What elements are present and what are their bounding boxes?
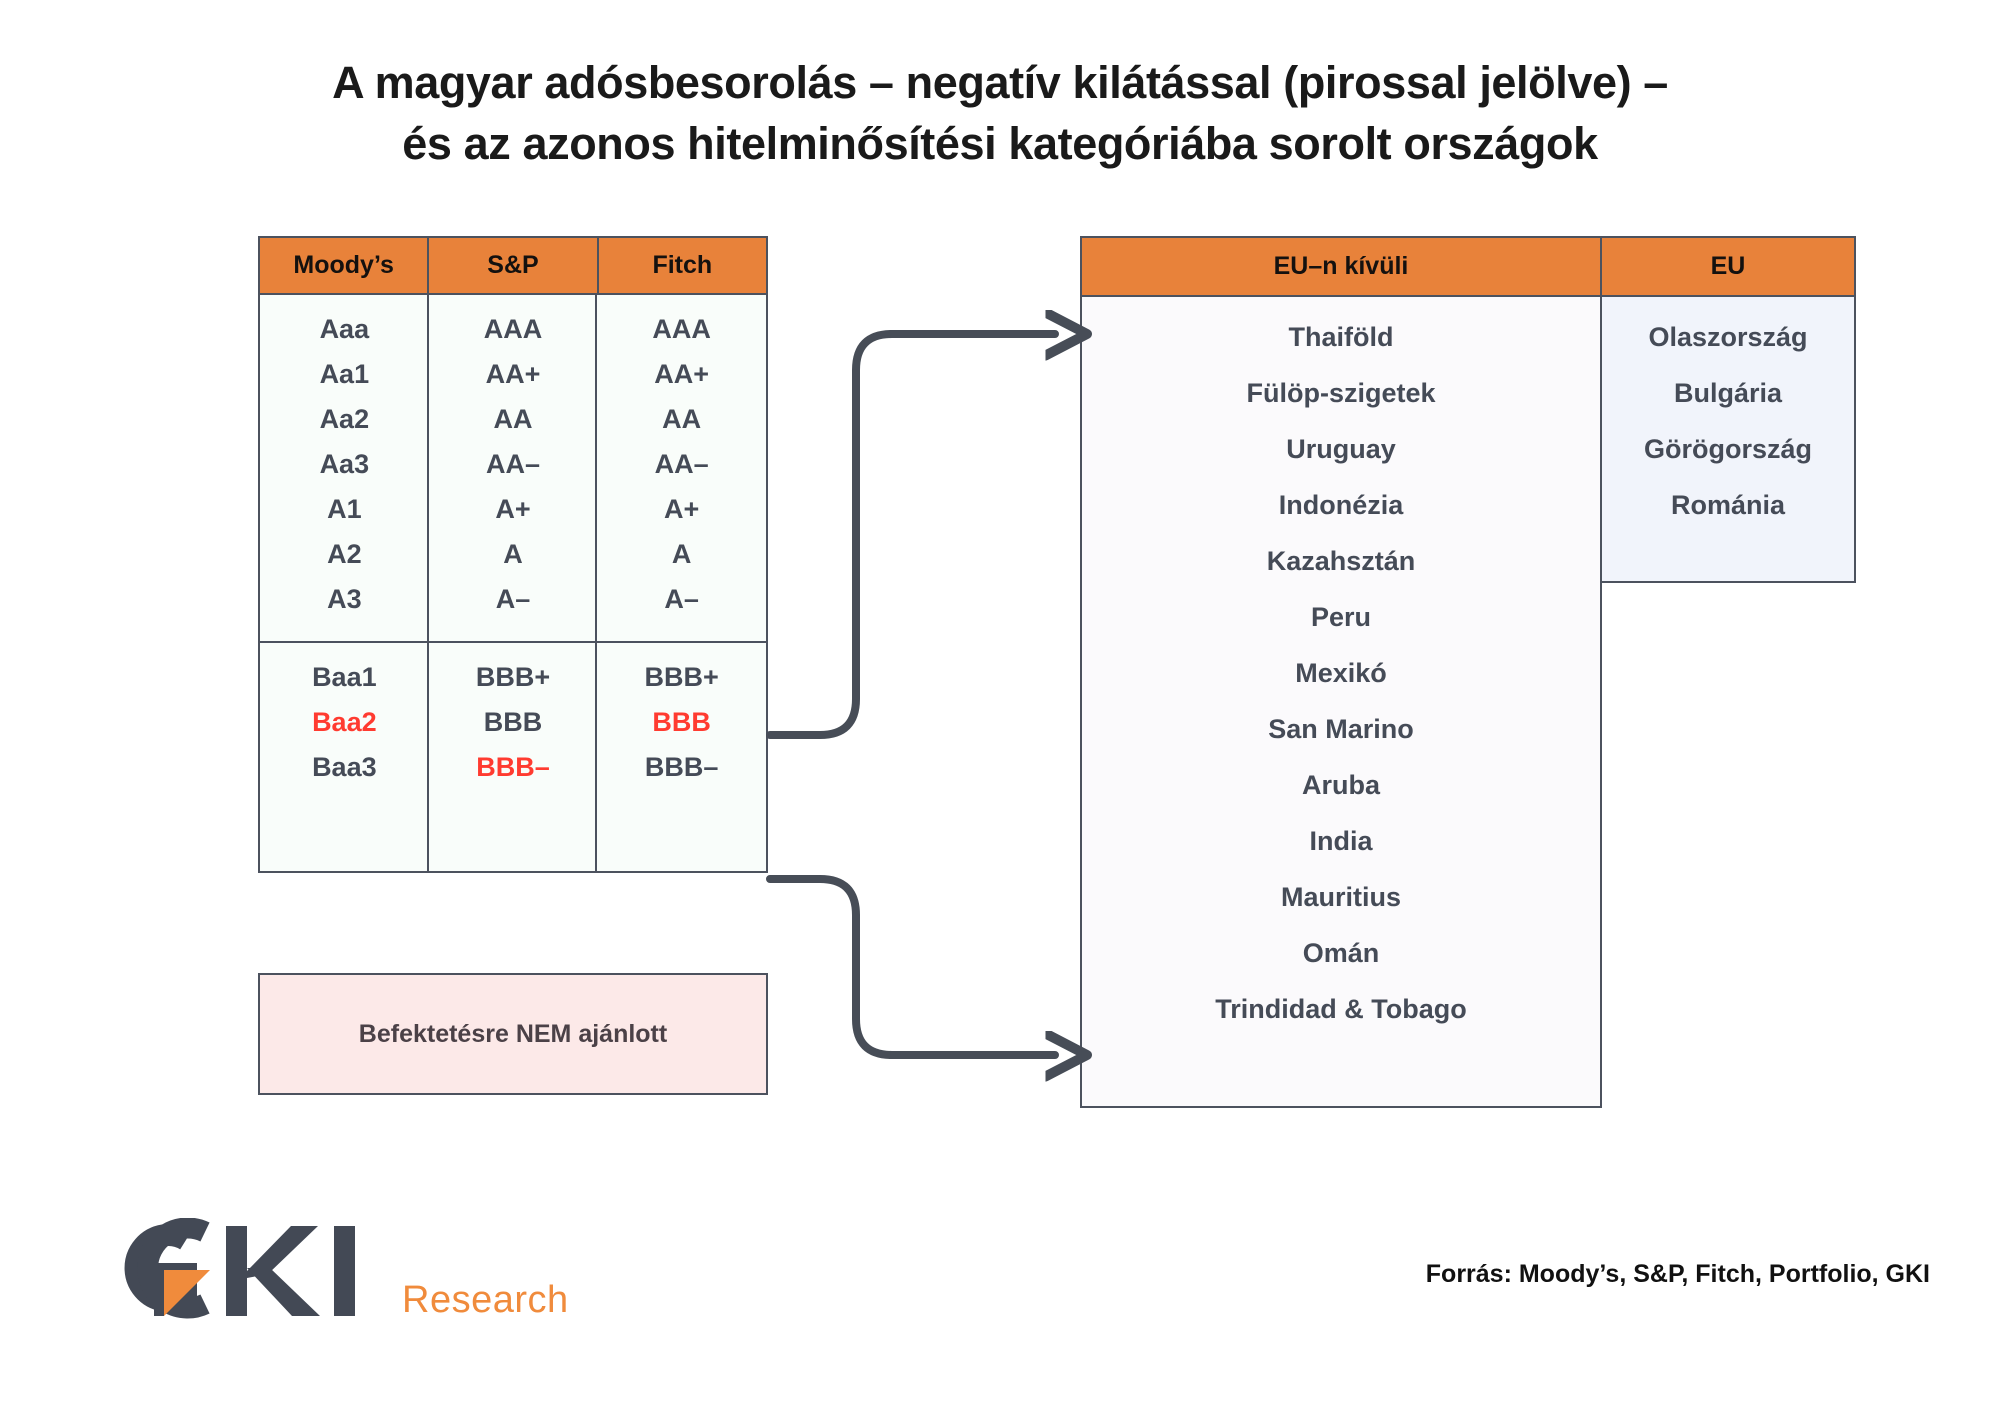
rating-cell: A xyxy=(429,532,598,577)
list-item: Románia xyxy=(1602,477,1854,533)
ratings-group-upper: Aaa Aa1 Aa2 Aa3 A1 A2 A3 AAA AA+ AA AA– … xyxy=(258,295,768,643)
ratings-column-moodys-upper: Aaa Aa1 Aa2 Aa3 A1 A2 A3 xyxy=(260,295,429,641)
rating-cell: AA xyxy=(597,397,766,442)
list-item: San Marino xyxy=(1082,701,1600,757)
rating-cell: Aa2 xyxy=(260,397,429,442)
rating-cell: BBB+ xyxy=(429,655,598,700)
source-note: Forrás: Moody’s, S&P, Fitch, Portfolio, … xyxy=(1426,1260,1930,1289)
rating-cell: A1 xyxy=(260,487,429,532)
rating-cell: BBB xyxy=(429,700,598,745)
list-item: India xyxy=(1082,813,1600,869)
rating-cell-negative-outlook: Baa2 xyxy=(260,700,429,745)
ratings-column-sp-upper: AAA AA+ AA AA– A+ A A– xyxy=(427,295,598,641)
gki-research-logo: Research xyxy=(108,1218,569,1328)
ratings-table-header-row: Moody’s S&P Fitch xyxy=(258,236,768,295)
non-eu-countries-table: EU–n kívüli Thaiföld Fülöp-szigetek Urug… xyxy=(1080,236,1602,1108)
arrow-baa2-to-countries xyxy=(770,334,1055,735)
column-header-fitch: Fitch xyxy=(597,236,768,295)
rating-cell: Aa3 xyxy=(260,442,429,487)
ratings-column-fitch-upper: AAA AA+ AA AA– A+ A A– xyxy=(595,295,766,641)
rating-cell: A2 xyxy=(260,532,429,577)
rating-cell-negative-outlook: BBB xyxy=(597,700,766,745)
list-item: Mexikó xyxy=(1082,645,1600,701)
rating-cell: AA– xyxy=(597,442,766,487)
rating-cell: BBB– xyxy=(597,745,766,790)
rating-cell: BBB+ xyxy=(597,655,766,700)
rating-cell: A– xyxy=(597,577,766,622)
logo-suffix: Research xyxy=(402,1279,569,1322)
list-item: Görögország xyxy=(1602,421,1854,477)
list-item: Indonézia xyxy=(1082,477,1600,533)
ratings-column-sp-lower: BBB+ BBB BBB– xyxy=(427,643,598,871)
ratings-column-moodys-lower: Baa1 Baa2 Baa3 xyxy=(260,643,429,871)
rating-cell: A3 xyxy=(260,577,429,622)
list-item: Trindidad & Tobago xyxy=(1082,981,1600,1037)
column-header-eu: EU xyxy=(1602,238,1854,297)
rating-cell: A– xyxy=(429,577,598,622)
list-item: Olaszország xyxy=(1602,309,1854,365)
eu-countries-table: EU Olaszország Bulgária Görögország Romá… xyxy=(1600,236,1856,583)
list-item: Fülöp-szigetek xyxy=(1082,365,1600,421)
list-item: Mauritius xyxy=(1082,869,1600,925)
ratings-table: Moody’s S&P Fitch Aaa Aa1 Aa2 Aa3 A1 A2 … xyxy=(258,236,768,1095)
list-item: Peru xyxy=(1082,589,1600,645)
page-title: A magyar adósbesorolás – negatív kilátás… xyxy=(0,52,2000,174)
list-item: Uruguay xyxy=(1082,421,1600,477)
not-recommended-band: Befektetésre NEM ajánlott xyxy=(258,973,768,1095)
column-header-non-eu: EU–n kívüli xyxy=(1082,238,1600,297)
infographic-canvas: A magyar adósbesorolás – negatív kilátás… xyxy=(0,0,2000,1414)
list-item: Omán xyxy=(1082,925,1600,981)
list-item: Aruba xyxy=(1082,757,1600,813)
page-title-line-2: és az azonos hitelminősítési kategóriába… xyxy=(0,113,2000,174)
rating-cell: A xyxy=(597,532,766,577)
gki-wordmark-icon xyxy=(108,1218,398,1328)
eu-country-list: Olaszország Bulgária Görögország Románia xyxy=(1602,297,1854,533)
column-header-sp: S&P xyxy=(427,236,598,295)
rating-cell: AA xyxy=(429,397,598,442)
column-header-moodys: Moody’s xyxy=(258,236,429,295)
arrow-baa3-to-countries xyxy=(770,879,1055,1055)
rating-cell: AA– xyxy=(429,442,598,487)
rating-cell: Baa3 xyxy=(260,745,429,790)
rating-cell: Baa1 xyxy=(260,655,429,700)
list-item: Thaiföld xyxy=(1082,309,1600,365)
non-eu-country-list: Thaiföld Fülöp-szigetek Uruguay Indonézi… xyxy=(1082,297,1600,1037)
rating-cell-negative-outlook: BBB– xyxy=(429,745,598,790)
list-item: Bulgária xyxy=(1602,365,1854,421)
ratings-group-lower: Baa1 Baa2 Baa3 BBB+ BBB BBB– BBB+ BBB BB… xyxy=(258,643,768,873)
rating-cell: AAA xyxy=(429,307,598,352)
rating-cell: Aa1 xyxy=(260,352,429,397)
page-title-line-1: A magyar adósbesorolás – negatív kilátás… xyxy=(0,52,2000,113)
ratings-column-fitch-lower: BBB+ BBB BBB– xyxy=(595,643,766,871)
rating-cell: A+ xyxy=(597,487,766,532)
rating-cell: A+ xyxy=(429,487,598,532)
rating-cell: AA+ xyxy=(597,352,766,397)
rating-cell: Aaa xyxy=(260,307,429,352)
rating-cell: AAA xyxy=(597,307,766,352)
list-item: Kazahsztán xyxy=(1082,533,1600,589)
rating-cell: AA+ xyxy=(429,352,598,397)
